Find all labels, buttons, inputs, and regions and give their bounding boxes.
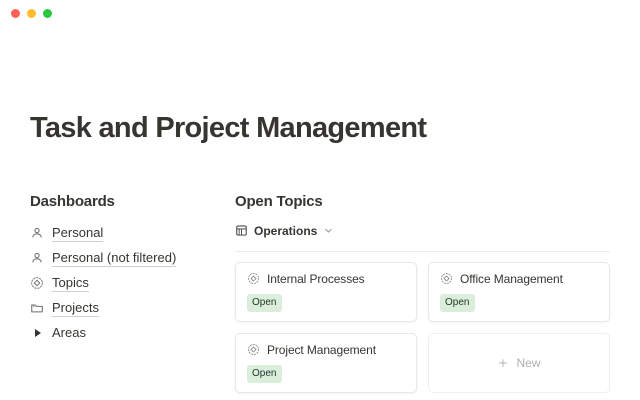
section-divider	[235, 251, 610, 252]
dashboards-column: Dashboards Personal Personal	[30, 193, 235, 393]
triangle-right-icon[interactable]	[30, 326, 44, 340]
topic-card-header: Office Management	[440, 272, 598, 286]
topic-card-grid: Internal Processes Open Office Managemen…	[235, 262, 610, 393]
status-badge: Open	[247, 365, 282, 383]
chevron-down-icon[interactable]	[323, 225, 334, 236]
grid-table-icon	[235, 224, 248, 237]
database-source-label: Operations	[254, 224, 317, 238]
sidebar-item-label: Projects	[52, 299, 99, 318]
dashboards-heading: Dashboards	[30, 193, 235, 210]
topic-icon	[247, 272, 260, 285]
status-badge: Open	[440, 294, 475, 312]
topic-card[interactable]: Office Management Open	[428, 262, 610, 322]
window-titlebar	[0, 0, 640, 26]
sidebar-item-topics[interactable]: Topics	[30, 271, 235, 295]
open-topics-heading: Open Topics	[235, 193, 610, 210]
new-topic-card[interactable]: New	[428, 333, 610, 393]
status-badge: Open	[247, 294, 282, 312]
maximize-button[interactable]	[43, 9, 52, 18]
folder-icon	[30, 301, 44, 315]
sidebar-item-label: Personal	[52, 224, 103, 243]
topic-card[interactable]: Internal Processes Open	[235, 262, 417, 322]
person-icon	[30, 226, 44, 240]
database-source-selector[interactable]: Operations	[235, 221, 610, 241]
page-title: Task and Project Management	[30, 113, 610, 145]
sidebar-item-label: Personal (not filtered)	[52, 249, 176, 268]
open-topics-column: Open Topics Operations	[235, 193, 610, 393]
topic-icon	[30, 276, 44, 290]
topic-icon	[440, 272, 453, 285]
topic-card-title: Project Management	[267, 343, 376, 357]
person-icon	[30, 251, 44, 265]
sidebar-item-label: Topics	[52, 274, 89, 293]
topic-card-header: Internal Processes	[247, 272, 405, 286]
sidebar-item-label: Areas	[52, 324, 86, 342]
new-topic-label: New	[516, 356, 540, 370]
sidebar-item-areas[interactable]: Areas	[30, 321, 235, 345]
sidebar-item-personal[interactable]: Personal	[30, 221, 235, 245]
columns-layout: Dashboards Personal Personal	[30, 193, 610, 393]
close-button[interactable]	[11, 9, 20, 18]
topic-card-title: Office Management	[460, 272, 563, 286]
topic-card[interactable]: Project Management Open	[235, 333, 417, 393]
topic-icon	[247, 343, 260, 356]
sidebar-item-personal-not-filtered[interactable]: Personal (not filtered)	[30, 246, 235, 270]
topic-card-title: Internal Processes	[267, 272, 365, 286]
plus-icon	[497, 357, 509, 369]
minimize-button[interactable]	[27, 9, 36, 18]
sidebar-item-projects[interactable]: Projects	[30, 296, 235, 320]
page-content: Task and Project Management Dashboards P…	[0, 113, 640, 393]
topic-card-header: Project Management	[247, 343, 405, 357]
